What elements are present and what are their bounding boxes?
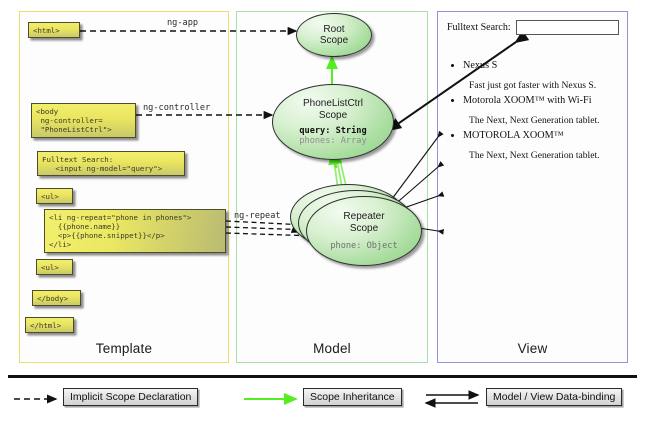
legend-item-model-view-data-binding: Model / View Data-binding (486, 388, 622, 406)
bullet-icon (451, 64, 454, 67)
panel-label-model: Model (237, 341, 427, 356)
scope-phonelistctrl-props: query: String phones: Array (299, 126, 366, 146)
edge-label-ng-controller: ng-controller (143, 103, 210, 113)
view-phone-list: Nexus S Fast just got faster with Nexus … (447, 60, 619, 161)
panel-label-template: Template (20, 341, 228, 356)
template-block-li-ng-repeat: <li ng-repeat="phone in phones"> {{phone… (44, 209, 226, 253)
panel-template: Template (19, 11, 229, 363)
list-item[interactable]: Motorola XOOM™ with Wi-Fi The Next, Next… (447, 95, 619, 126)
view-search-label: Fulltext Search: (447, 22, 511, 33)
panel-label-view: View (438, 341, 627, 356)
legend-label-model-view-data-binding: Model / View Data-binding (486, 388, 622, 406)
bullet-icon (451, 99, 454, 102)
scope-phonelistctrl-title: PhoneListCtrl Scope (303, 98, 363, 121)
template-block-html-open-tag: <html> (28, 22, 80, 38)
scope-repeater-prop-phone: phone: Object (330, 241, 397, 251)
list-item[interactable]: MOTOROLA XOOM™ The Next, Next Generation… (447, 130, 619, 161)
legend-item-implicit-scope-declaration: Implicit Scope Declaration (63, 388, 198, 406)
scope-root: Root Scope (296, 13, 372, 57)
phone-name: Nexus S (463, 60, 497, 71)
edge-label-ng-app: ng-app (167, 18, 198, 28)
phone-name: MOTOROLA XOOM™ (463, 130, 564, 141)
scope-repeater: Repeater Scope phone: Object (306, 196, 422, 266)
scope-repeater-title: Repeater Scope (343, 211, 384, 234)
template-block-html-close-tag: </html> (25, 317, 74, 333)
template-block-fulltext-search-input: Fulltext Search: <input ng-model="query"… (37, 151, 185, 176)
scope-phonelistctrl: PhoneListCtrl Scope query: String phones… (272, 84, 394, 160)
phone-snippet: The Next, Next Generation tablet. (469, 150, 619, 161)
template-block-body-controller-tag: <body ng-controller= "PhoneListCtrl"> (31, 103, 136, 138)
scope-root-title: Root Scope (320, 24, 348, 47)
legend-label-implicit-scope-declaration: Implicit Scope Declaration (63, 388, 198, 406)
edge-label-ng-repeat: ng-repeat (234, 211, 281, 221)
scope-prop-phones: phones: Array (299, 136, 366, 146)
phone-name: Motorola XOOM™ with Wi-Fi (463, 95, 592, 106)
template-block-ul-open-tag: <ul> (36, 188, 73, 204)
phone-snippet: Fast just got faster with Nexus S. (469, 80, 619, 91)
legend-label-scope-inheritance: Scope Inheritance (303, 388, 402, 406)
angularjs-scope-diagram: Template Model View (0, 0, 645, 425)
view-content: Fulltext Search: Nexus S Fast just got f… (447, 20, 619, 165)
template-block-body-close-tag: </body> (32, 290, 81, 306)
view-search-input[interactable] (516, 20, 619, 35)
template-block-ul-close-tag: <ul> (36, 259, 73, 275)
legend-divider (8, 375, 637, 378)
view-search-row: Fulltext Search: (447, 20, 619, 35)
legend-item-scope-inheritance: Scope Inheritance (303, 388, 402, 406)
bullet-icon (451, 134, 454, 137)
legend: Implicit Scope Declaration Scope Inherit… (8, 384, 637, 414)
scope-prop-query: query: String (299, 126, 366, 136)
list-item[interactable]: Nexus S Fast just got faster with Nexus … (447, 60, 619, 91)
phone-snippet: The Next, Next Generation tablet. (469, 115, 619, 126)
